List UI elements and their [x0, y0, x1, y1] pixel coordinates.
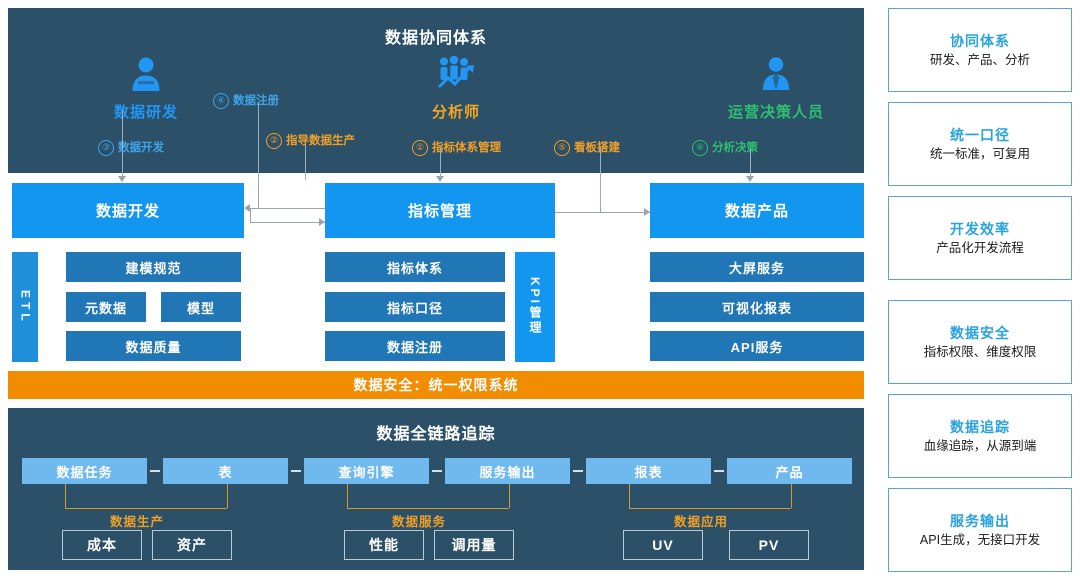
- box-data-development[interactable]: 数据开发: [12, 183, 244, 238]
- step-number: ⑤: [554, 140, 570, 156]
- step-label: 指导数据生产: [286, 135, 355, 147]
- box-metric-management[interactable]: 指标管理: [325, 183, 555, 238]
- bracket-line: [65, 484, 66, 508]
- box-model[interactable]: 模型: [161, 292, 241, 322]
- person-icon: [86, 56, 206, 97]
- feature-sidebar: 协同体系 研发、产品、分析 统一口径 统一标准，可复用 开发效率 产品化开发流程…: [884, 0, 1080, 578]
- person-tie-icon: [706, 56, 846, 97]
- group-label-application: 数据应用: [674, 511, 728, 530]
- box-bigscreen-service[interactable]: 大屏服务: [650, 252, 864, 282]
- box-api-service[interactable]: API服务: [650, 331, 864, 361]
- diagram-canvas: 数据协同体系 数据研发: [0, 0, 872, 578]
- step-label: 数据开发: [118, 142, 164, 154]
- box-etl-label: ETL: [17, 290, 34, 325]
- arrow-down-icon: [436, 176, 444, 182]
- analytics-people-icon: [396, 56, 516, 97]
- security-bar[interactable]: 数据安全：统一权限系统: [8, 371, 864, 399]
- step-6: ⑥分析决策: [692, 139, 758, 156]
- step-label: 分析决策: [712, 142, 758, 154]
- leaf-asset[interactable]: 资产: [152, 530, 232, 560]
- card-subtitle: API生成，无接口开发: [920, 531, 1040, 549]
- bracket-line: [629, 484, 630, 508]
- card-dev-efficiency[interactable]: 开发效率 产品化开发流程: [888, 196, 1072, 280]
- arrow-right-icon: [644, 208, 650, 216]
- connector-line: [122, 110, 123, 180]
- bracket-line: [347, 508, 509, 509]
- chain-item-report[interactable]: 报表: [586, 458, 711, 484]
- group-label-production: 数据生产: [110, 511, 164, 530]
- leaf-pv[interactable]: PV: [729, 530, 809, 560]
- card-data-tracking[interactable]: 数据追踪 血缘追踪，从源到端: [888, 394, 1072, 478]
- bracket-line: [347, 484, 348, 508]
- role-data-rd: 数据研发: [86, 56, 206, 122]
- card-title: 服务输出: [950, 512, 1010, 531]
- chain-connector: [573, 470, 583, 472]
- arrow-right-icon: [319, 218, 325, 226]
- step-number: ⑥: [692, 140, 708, 156]
- box-metric-caliber[interactable]: 指标口径: [325, 292, 505, 322]
- step-number: ③: [98, 140, 114, 156]
- card-unified-caliber[interactable]: 统一口径 统一标准，可复用: [888, 102, 1072, 186]
- role-label: 运营决策人员: [728, 104, 824, 121]
- step-number: ①: [412, 140, 428, 156]
- leaf-call-volume[interactable]: 调用量: [434, 530, 514, 560]
- connector-line: [305, 145, 306, 180]
- card-data-security[interactable]: 数据安全 指标权限、维度权限: [888, 300, 1072, 384]
- role-label: 分析师: [432, 104, 480, 121]
- chain-item-query-engine[interactable]: 查询引擎: [304, 458, 429, 484]
- box-etl[interactable]: ETL: [12, 252, 38, 362]
- step-label: 看板搭建: [574, 142, 620, 154]
- step-number: ②: [266, 133, 282, 149]
- leaf-uv[interactable]: UV: [623, 530, 703, 560]
- bracket-line: [509, 484, 510, 508]
- chain-item-product[interactable]: 产品: [727, 458, 852, 484]
- connector-line: [258, 180, 259, 208]
- connector-line: [600, 208, 601, 212]
- card-title: 数据安全: [950, 324, 1010, 343]
- arrow-down-icon: [746, 176, 754, 182]
- card-title: 开发效率: [950, 220, 1010, 239]
- chain-connector: [432, 470, 442, 472]
- card-service-output[interactable]: 服务输出 API生成，无接口开发: [888, 488, 1072, 572]
- role-operations: 运营决策人员: [706, 56, 846, 122]
- connector-line: [250, 208, 251, 222]
- step-label: 数据注册: [233, 95, 279, 107]
- collaboration-panel-title: 数据协同体系: [8, 24, 864, 48]
- card-title: 数据追踪: [950, 418, 1010, 437]
- card-title: 协同体系: [950, 32, 1010, 51]
- card-collaboration[interactable]: 协同体系 研发、产品、分析: [888, 8, 1072, 92]
- chain-connector: [714, 470, 724, 472]
- leaf-performance[interactable]: 性能: [344, 530, 424, 560]
- bracket-line: [227, 484, 228, 508]
- role-analyst: 分析师: [396, 56, 516, 122]
- tracking-panel-title: 数据全链路追踪: [8, 420, 864, 444]
- step-label: 指标体系管理: [432, 142, 501, 154]
- step-4: ④数据注册: [213, 92, 279, 109]
- step-3: ③数据开发: [98, 139, 164, 156]
- chain-item-data-task[interactable]: 数据任务: [22, 458, 147, 484]
- step-1: ①指标体系管理: [412, 139, 501, 156]
- step-2: ②指导数据生产: [266, 132, 355, 149]
- box-data-product[interactable]: 数据产品: [650, 183, 864, 238]
- leaf-cost[interactable]: 成本: [62, 530, 142, 560]
- bracket-line: [791, 484, 792, 508]
- chain-item-table[interactable]: 表: [163, 458, 288, 484]
- connector-line: [600, 148, 601, 210]
- box-data-registration[interactable]: 数据注册: [325, 331, 505, 361]
- step-5: ⑤看板搭建: [554, 139, 620, 156]
- connector-line: [250, 208, 325, 209]
- card-subtitle: 产品化开发流程: [936, 239, 1024, 257]
- arrow-down-icon: [118, 176, 126, 182]
- chain-connector: [291, 470, 301, 472]
- card-subtitle: 统一标准，可复用: [930, 145, 1030, 163]
- collaboration-panel: 数据协同体系 数据研发: [8, 8, 864, 173]
- box-kpi-management[interactable]: KPI管理: [515, 252, 555, 362]
- connector-line: [555, 212, 650, 213]
- connector-line: [250, 222, 325, 223]
- connector-line: [258, 103, 259, 180]
- box-data-quality[interactable]: 数据质量: [66, 331, 241, 361]
- box-visual-report[interactable]: 可视化报表: [650, 292, 864, 322]
- step-number: ④: [213, 93, 229, 109]
- bracket-line: [65, 508, 227, 509]
- role-label: 数据研发: [114, 104, 178, 121]
- card-subtitle: 指标权限、维度权限: [924, 343, 1037, 361]
- box-metric-system[interactable]: 指标体系: [325, 252, 505, 282]
- bracket-line: [629, 508, 791, 509]
- card-subtitle: 研发、产品、分析: [930, 51, 1030, 69]
- chain-connector: [150, 470, 160, 472]
- chain-item-service-output[interactable]: 服务输出: [445, 458, 570, 484]
- group-label-service: 数据服务: [392, 511, 446, 530]
- card-title: 统一口径: [950, 126, 1010, 145]
- box-modeling-spec[interactable]: 建模规范: [66, 252, 241, 282]
- box-kpi-label: KPI管理: [527, 277, 543, 336]
- box-metadata[interactable]: 元数据: [66, 292, 146, 322]
- card-subtitle: 血缘追踪，从源到端: [924, 437, 1037, 455]
